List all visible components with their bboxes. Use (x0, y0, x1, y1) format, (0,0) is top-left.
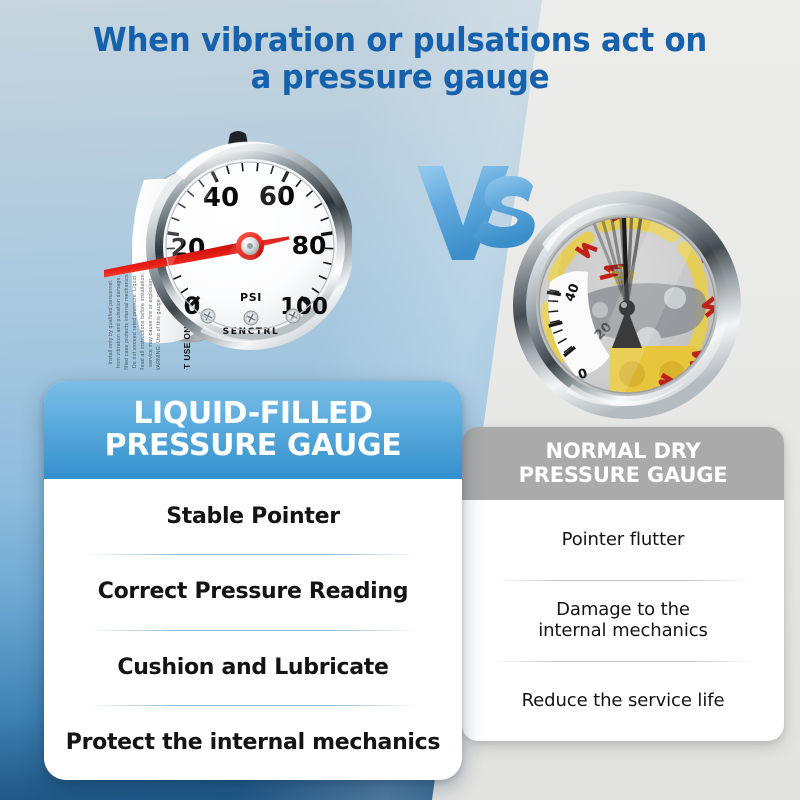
list-item: Reduce the service life (462, 661, 784, 741)
list-item: Pointer flutter (462, 500, 784, 580)
list-item: Protect the internal mechanics (44, 705, 462, 780)
svg-text:service may cause fire or expl: service may cause fire or explosion. (148, 277, 154, 367)
svg-text:filled case protects internal: filled case protects internal mechanics (124, 274, 130, 370)
list-item: Damage to the internal mechanics (462, 580, 784, 660)
svg-text:Read all instructions before i: Read all instructions before installatio… (140, 273, 146, 370)
card-title-line-2: PRESSURE GAUGE (105, 430, 402, 462)
liquid-filled-card-header: LIQUID-FILLED PRESSURE GAUGE (44, 381, 462, 479)
card-title-line-1: NORMAL DRY (545, 440, 700, 463)
infographic-canvas: When vibration or pulsations act on a pr… (0, 0, 800, 800)
dry-gauge-drawbacks-card: NORMAL DRY PRESSURE GAUGE Pointer flutte… (462, 427, 784, 741)
svg-text:from vibration and pulsation d: from vibration and pulsation damage. (116, 276, 122, 369)
list-item: Cushion and Lubricate (44, 630, 462, 705)
gauge-unit-label: PSI (240, 291, 262, 304)
card-title-line-2: PRESSURE GAUGE (519, 464, 728, 487)
list-item: Correct Pressure Reading (44, 554, 462, 629)
liquid-filled-gauge-image: DO NOT USE ON OXYGEN SYSTEM WARNING: Use… (104, 128, 352, 370)
dry-gauge-drawback-list: Pointer flutter Damage to the internal m… (462, 500, 784, 741)
card-title-line-1: LIQUID-FILLED (133, 398, 372, 430)
gauge-brand-label: SENCTRL (223, 327, 280, 337)
svg-text:Install only by qualified pers: Install only by qualified personnel. (108, 279, 114, 364)
dry-gauge-image: 40 20 0 (508, 186, 746, 424)
svg-text:80: 80 (292, 231, 327, 260)
list-item: Stable Pointer (44, 479, 462, 554)
svg-text:Do not exceed rated pressure.: Do not exceed rated pressure. Liquid (132, 276, 138, 368)
dry-gauge-card-header: NORMAL DRY PRESSURE GAUGE (462, 427, 784, 500)
page-title: When vibration or pulsations act on a pr… (28, 22, 772, 96)
liquid-filled-benefit-list: Stable Pointer Correct Pressure Reading … (44, 479, 462, 780)
liquid-filled-benefits-card: LIQUID-FILLED PRESSURE GAUGE Stable Poin… (44, 381, 462, 780)
